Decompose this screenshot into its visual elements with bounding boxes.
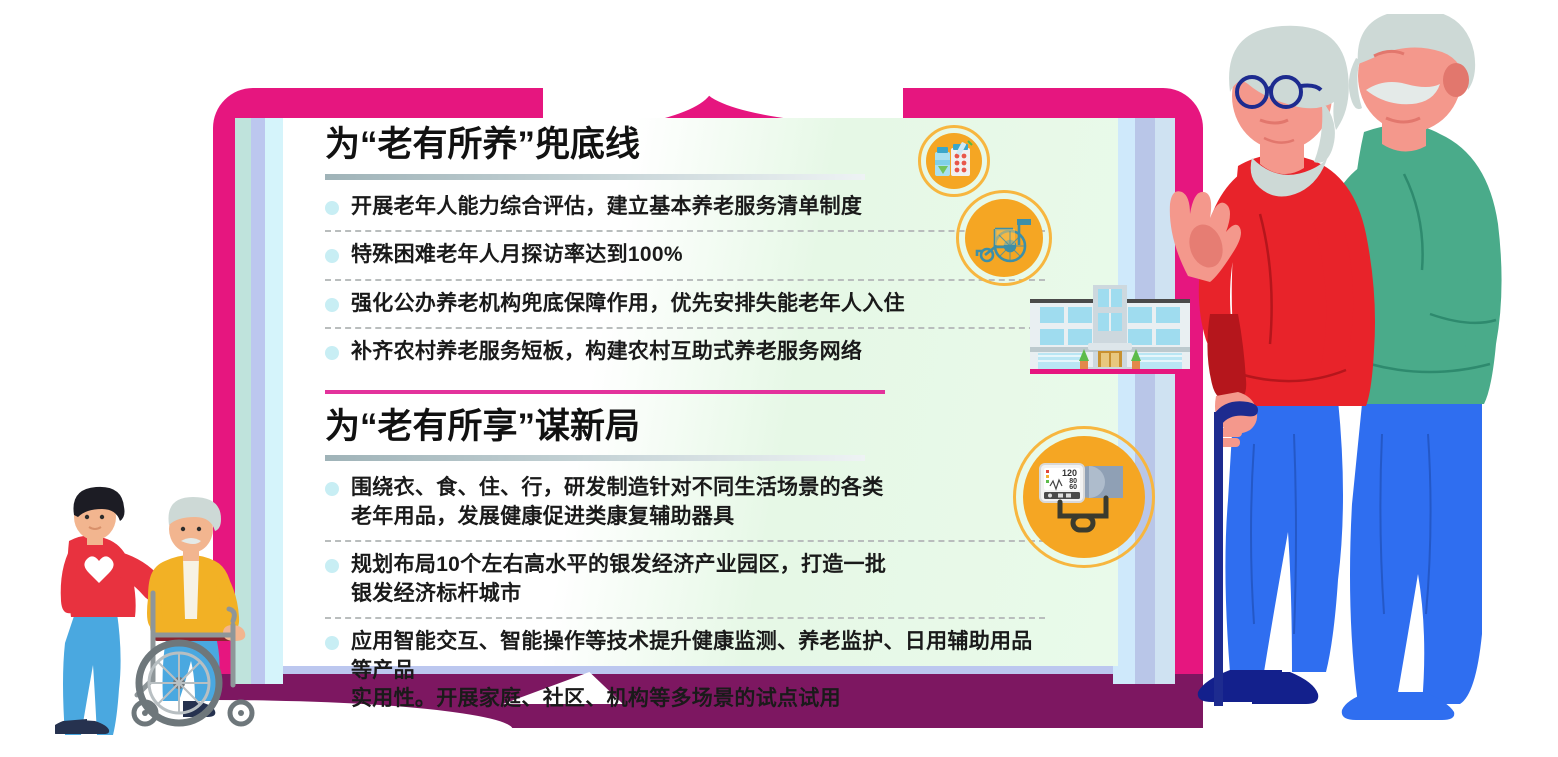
list-item-text: 特殊困难老年人月探访率达到100% (351, 243, 683, 266)
caregiver-and-elder-in-wheelchair-illustration (55, 485, 285, 735)
bp-systolic: 120 (1062, 468, 1077, 478)
section-2: 为“老有所享”谋新局 围绕衣、食、住、行，研发制造针对不同生活场景的各类 老年用… (325, 408, 1045, 723)
section-1-title-rule (325, 174, 865, 180)
bullet-dot-icon (325, 482, 339, 496)
nursing-home-building-icon (1030, 281, 1190, 374)
list-item-text: 围绕衣、食、住、行，研发制造针对不同生活场景的各类 老年用品，发展健康促进类康复… (351, 476, 884, 528)
medicine-bottle-syringe-pills-icon (926, 133, 982, 189)
content-area: 为“老有所养”兜底线 开展老年人能力综合评估，建立基本养老服务清单制度 特殊困难… (325, 126, 1045, 723)
list-item-text: 规划布局10个左右高水平的银发经济产业园区，打造一批 银发经济标杆城市 (351, 553, 886, 605)
elderly-couple-illustration (1168, 14, 1528, 720)
bullet-dot-icon (325, 346, 339, 360)
bp-pulse: 60 (1069, 484, 1077, 491)
bullet-dot-icon (325, 636, 339, 650)
section-2-list: 围绕衣、食、住、行，研发制造针对不同生活场景的各类 老年用品，发展健康促进类康复… (325, 465, 1045, 723)
list-item[interactable]: 特殊困难老年人月探访率达到100% (325, 230, 1045, 279)
bullet-dot-icon (325, 559, 339, 573)
blood-pressure-monitor-icon: 120 80 60 (1023, 436, 1145, 558)
bullet-dot-icon (325, 298, 339, 312)
section-2-title-rule (325, 455, 865, 461)
bullet-dot-icon (325, 201, 339, 215)
elderly-woman (1170, 26, 1375, 706)
bullet-dot-icon (325, 249, 339, 263)
list-item[interactable]: 围绕衣、食、住、行，研发制造针对不同生活场景的各类 老年用品，发展健康促进类康复… (325, 465, 1045, 540)
list-item-text: 开展老年人能力综合评估，建立基本养老服务清单制度 (351, 195, 862, 218)
list-item[interactable]: 强化公办养老机构兜底保障作用，优先安排失能老年人入住 (325, 279, 1045, 328)
open-book-frame: 为“老有所养”兜底线 开展老年人能力综合评估，建立基本养老服务清单制度 特殊困难… (213, 88, 1203, 728)
elder-in-wheelchair (134, 497, 252, 724)
section-2-title: 为“老有所享”谋新局 (325, 408, 1045, 447)
wheelchair-icon (965, 199, 1043, 277)
page-edge-right-2 (1135, 118, 1155, 684)
infographic-canvas: 为“老有所养”兜底线 开展老年人能力综合评估，建立基本养老服务清单制度 特殊困难… (0, 0, 1558, 757)
list-item-text: 强化公办养老机构兜底保障作用，优先安排失能老年人入住 (351, 292, 905, 315)
section-1-list: 开展老年人能力综合评估，建立基本养老服务清单制度 特殊困难老年人月探访率达到10… (325, 184, 1045, 376)
list-item[interactable]: 规划布局10个左右高水平的银发经济产业园区，打造一批 银发经济标杆城市 (325, 540, 1045, 617)
section-divider (325, 390, 885, 394)
list-item-text: 应用智能交互、智能操作等技术提升健康监测、养老监护、日用辅助用品等产品 实用性。… (351, 630, 1033, 710)
list-item[interactable]: 应用智能交互、智能操作等技术提升健康监测、养老监护、日用辅助用品等产品 实用性。… (325, 617, 1045, 723)
list-item-text: 补齐农村养老服务短板，构建农村互助式养老服务网络 (351, 340, 862, 363)
list-item[interactable]: 补齐农村养老服务短板，构建农村互助式养老服务网络 (325, 327, 1045, 376)
